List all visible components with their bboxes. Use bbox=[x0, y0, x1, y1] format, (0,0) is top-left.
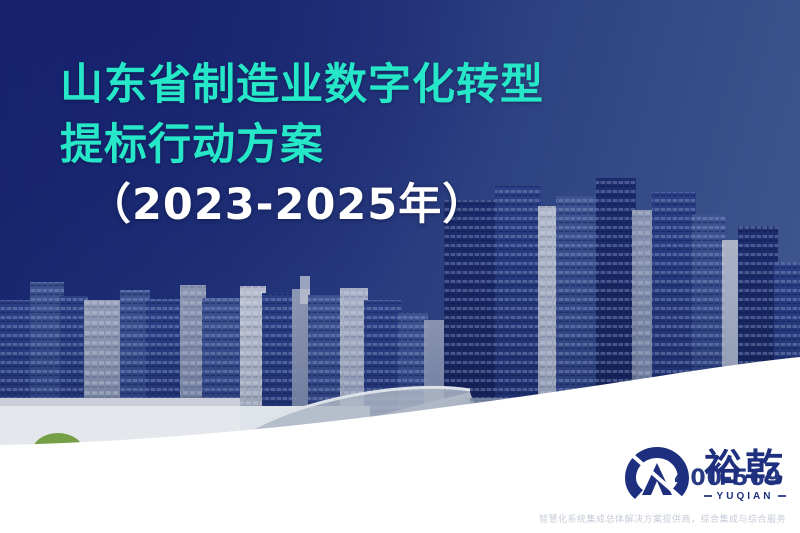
title-line-2: 提标行动方案 bbox=[60, 118, 700, 174]
logo-cn-name: 裕乾 bbox=[704, 449, 786, 487]
brand-logo: 裕乾 YUQIAN bbox=[620, 443, 786, 507]
title-line-3: （2023-2025年） bbox=[88, 178, 700, 234]
logo-en-name: YUQIAN bbox=[717, 491, 774, 502]
title-line-1: 山东省制造业数字化转型 bbox=[60, 58, 700, 114]
page-title: 山东省制造业数字化转型 提标行动方案 （2023-2025年） bbox=[60, 58, 700, 234]
brand-tagline: 智慧化系统集成总体解决方案提供商，综合集成与综合服务 bbox=[539, 512, 786, 525]
poster-canvas: 山东省制造业数字化转型 提标行动方案 （2023-2025年） 裕乾 YUQIA… bbox=[0, 0, 800, 533]
logo-rule-right bbox=[778, 495, 786, 497]
logo-wordmark: 裕乾 YUQIAN bbox=[704, 449, 786, 502]
logo-underline: YUQIAN bbox=[704, 491, 786, 502]
logo-rule-left bbox=[704, 495, 712, 497]
yuqian-mark-icon bbox=[620, 443, 694, 507]
